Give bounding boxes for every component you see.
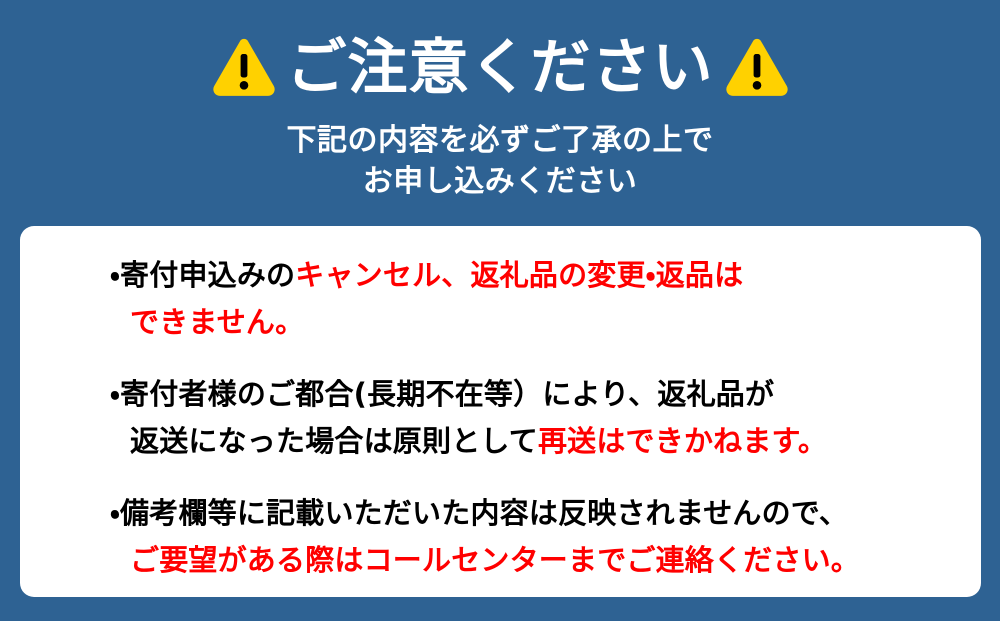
warning-triangle-icon [211,37,277,99]
notice-text: ・備考欄等に記載いただいた内容は反映されませんので、 [110,496,848,530]
notice-line: 返送になった場合は原則として再送はできかねます。 [110,418,961,465]
notice-item-remarks-field-policy: ・備考欄等に記載いただいた内容は反映されませんので、ご要望がある際はコールセンタ… [110,490,961,584]
subtitle-line-2: お申し込みください [363,164,638,199]
warning-triangle-icon [724,37,790,99]
notice-list: ・寄付申込みのキャンセル、返礼品の変更・返品はできません。・寄付者様のご都合(長… [110,252,961,584]
subtitle-line-1: 下記の内容を必ずご了承の上で [287,123,714,158]
notice-line: ・寄付申込みのキャンセル、返礼品の変更・返品は [110,252,961,299]
notice-text-emphasis: ご要望がある際はコールセンターまでご連絡ください。 [130,543,860,577]
notice-text-emphasis: できません。 [130,305,304,339]
notice-line: ・寄付者様のご都合(長期不在等）により、返礼品が [110,371,961,418]
banner-header: ご注意ください 下記の内容を必ずご了承の上で お申し込みください [0,0,1000,226]
notice-line: できません。 [110,299,961,346]
notice-text-emphasis: 再送はできかねます。 [538,424,827,458]
notice-line: ご要望がある際はコールセンターまでご連絡ください。 [110,537,961,584]
notice-text: 返送になった場合は原則として [130,424,538,458]
notice-item-cancellation-policy: ・寄付申込みのキャンセル、返礼品の変更・返品はできません。 [110,252,961,346]
notice-text-emphasis: キャンセル、返礼品の変更・返品は [295,258,743,292]
notice-text: ・寄付申込みの [110,258,295,292]
notice-banner: ご注意ください 下記の内容を必ずご了承の上で お申し込みください ・寄付申込みの… [0,0,1000,621]
notice-text: ・寄付者様のご都合(長期不在等）により、返礼品が [110,377,774,411]
notice-line: ・備考欄等に記載いただいた内容は反映されませんので、 [110,490,961,537]
banner-subtitle: 下記の内容を必ずご了承の上で お申し込みください [287,120,714,202]
title-row: ご注意ください [211,26,790,110]
page-title: ご注意ください [287,35,714,101]
notice-card: ・寄付申込みのキャンセル、返礼品の変更・返品はできません。・寄付者様のご都合(長… [20,226,981,597]
notice-item-redelivery-policy: ・寄付者様のご都合(長期不在等）により、返礼品が返送になった場合は原則として再送… [110,371,961,465]
